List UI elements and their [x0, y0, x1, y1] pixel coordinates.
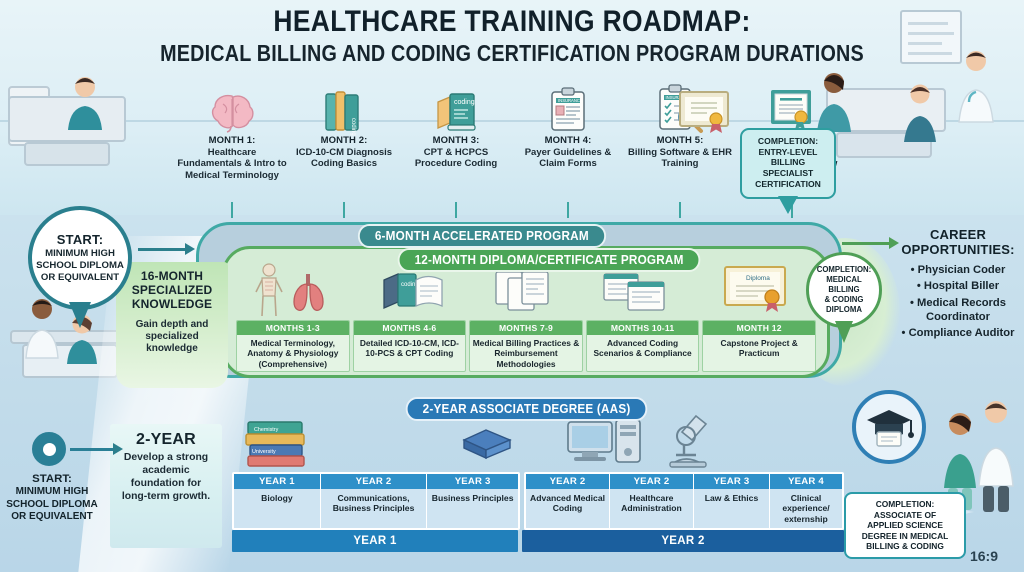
diploma-cell-body: Medical Terminology, Anatomy & Physiolog… [237, 335, 349, 372]
associate-cell-body: Healthcare Administration [610, 489, 693, 518]
svg-text:Chemistry: Chemistry [254, 427, 279, 433]
start-to-twoyear-arrow [70, 448, 114, 451]
start-dot-associate[interactable] [32, 432, 66, 466]
certificate-icon [736, 80, 848, 132]
start-pin-body: MINIMUM HIGH SCHOOL DIPLOMA OR EQUIVALEN… [32, 248, 128, 284]
completion-diploma-badge[interactable]: COMPLETION: MEDICAL BILLING & CODING DIP… [806, 252, 882, 328]
career-list-item: • Medical Records Coordinator [892, 296, 1024, 325]
diploma-cell-body: Medical Billing Practices & Reimbursemen… [470, 335, 582, 372]
associate-cell-head: YEAR 2 [610, 474, 693, 489]
career-list-item: • Physician Coder [892, 263, 1024, 277]
month-milestone-4[interactable]: INSURANCE MONTH 4: Payer Guidelines & Cl… [512, 80, 624, 170]
completion-aas-line-5: BILLING & CODING [850, 541, 960, 552]
completion-cert-line-2: ENTRY-LEVEL [747, 147, 829, 158]
diploma-cell[interactable]: MONTHS 10-11 Advanced Coding Scenarios &… [586, 320, 700, 372]
pin-pointer [69, 302, 91, 328]
infographic-canvas: HEALTHCARE TRAINING ROADMAP: MEDICAL BIL… [0, 0, 1024, 572]
documents-icon [492, 268, 552, 314]
associate-cell-head: YEAR 3 [694, 474, 769, 489]
svg-text:Diploma: Diploma [746, 275, 770, 282]
svg-text:coding: coding [350, 118, 356, 136]
completion-aas-line-3: APPLIED SCIENCE [850, 520, 960, 531]
associate-cell-head: YEAR 2 [321, 474, 427, 489]
reception-desk-front-decor [24, 142, 110, 166]
insurance-clipboard-icon: INSURANCE [512, 80, 624, 132]
title-line-1: HEALTHCARE TRAINING ROADMAP: [61, 6, 962, 38]
completion-cert-line-1: COMPLETION: [747, 136, 829, 147]
start-dot-label: START: MINIMUM HIGH SCHOOL DIPLOMA OR EQ… [6, 472, 98, 524]
career-heading-line-2: OPPORTUNITIES: [892, 243, 1024, 258]
desktop-computer-icon [566, 418, 644, 468]
diploma-cell-body: Capstone Project & Practicum [703, 335, 815, 362]
start-dot-body: MINIMUM HIGH SCHOOL DIPLOMA OR EQUIVALEN… [6, 486, 98, 524]
blue-book-icon [458, 424, 516, 464]
month-label: MONTH 2: [288, 135, 400, 147]
associate-cell[interactable]: YEAR 2 Healthcare Administration [610, 474, 694, 528]
associate-cell[interactable]: YEAR 3 Business Principles [427, 474, 518, 528]
panel-2-year[interactable]: 2-YEAR Develop a strong academic foundat… [110, 424, 222, 548]
books-icon: coding [288, 80, 400, 132]
associate-cell-body: Law & Ethics [694, 489, 769, 507]
start-pin-certificate[interactable]: START: MINIMUM HIGH SCHOOL DIPLOMA OR EQ… [28, 206, 132, 310]
completion-diploma-line-1: COMPLETION: [809, 265, 879, 275]
month-milestone-1[interactable]: MONTH 1: Healthcare Fundamentals & Intro… [176, 80, 288, 181]
diploma-icon: Diploma [722, 264, 788, 314]
associate-cell[interactable]: YEAR 1 Biology [234, 474, 321, 528]
badge-pointer [835, 321, 853, 343]
associate-cell-head: YEAR 1 [234, 474, 320, 489]
diploma-cell[interactable]: MONTH 12 Capstone Project & Practicum [702, 320, 816, 372]
diploma-cell-head: MONTH 12 [703, 321, 815, 335]
month-milestone-2[interactable]: coding MONTH 2: ICD-10-CM Diagnosis Codi… [288, 80, 400, 170]
program-label-associate[interactable]: 2-YEAR ASSOCIATE DEGREE (AAS) [406, 397, 648, 421]
month-description: ICD-10-CM Diagnosis Coding Basics [288, 147, 400, 170]
month-description: Healthcare Fundamentals & Intro to Medic… [176, 147, 288, 182]
associate-cell[interactable]: YEAR 3 Law & Ethics [694, 474, 770, 528]
stacked-books-icon: Chemistry University [242, 412, 312, 470]
svg-text:University: University [252, 449, 276, 455]
open-book-icon: coding [380, 270, 446, 314]
person-physician-decor [976, 398, 1020, 514]
aspect-ratio-watermark: 16:9 [970, 548, 998, 564]
associate-cell-head: YEAR 2 [526, 474, 609, 489]
person-clinician-decor [900, 82, 948, 142]
completion-diploma-line-2: MEDICAL BILLING [809, 275, 879, 295]
completion-diploma-line-4: DIPLOMA [809, 305, 879, 315]
milestone-stem [455, 202, 457, 218]
career-list-item: • Compliance Auditor [892, 326, 1024, 340]
diploma-cell-head: MONTHS 7-9 [470, 321, 582, 335]
associate-cell-body: Communications, Business Principles [321, 489, 427, 518]
panel-16-heading: 16-MONTH SPECIALIZED KNOWLEDGE [116, 270, 228, 312]
month-label: MONTH 5: [624, 135, 736, 147]
associate-cell[interactable]: YEAR 2 Advanced Medical Coding [526, 474, 610, 528]
brain-icon [176, 80, 288, 132]
start-dot-heading: START: [6, 472, 98, 486]
program-label-diploma[interactable]: 12-MONTH DIPLOMA/CERTIFICATE PROGRAM [398, 248, 701, 272]
associate-cell-body: Business Principles [427, 489, 518, 507]
diploma-cell[interactable]: MONTHS 4-6 Detailed ICD-10-CM, ICD-10-PC… [353, 320, 467, 372]
track-to-career-arrow [842, 242, 890, 245]
career-list-item: • Hospital Biller [892, 279, 1024, 293]
month-description: Billing Software & EHR Training [624, 147, 736, 170]
month-milestone-3[interactable]: coding MONTH 3: CPT & HCPCS Procedure Co… [400, 80, 512, 170]
month-label: MONTH 3: [400, 135, 512, 147]
diploma-cell-head: MONTHS 1-3 [237, 321, 349, 335]
career-list: • Physician Coder • Hospital Biller • Me… [892, 263, 1024, 341]
diploma-cell[interactable]: MONTHS 7-9 Medical Billing Practices & R… [469, 320, 583, 372]
associate-cell[interactable]: YEAR 4 Clinical experience/ externship [770, 474, 842, 528]
program-label-accelerated[interactable]: 6-MONTH ACCELERATED PROGRAM [358, 224, 606, 248]
associate-cell[interactable]: YEAR 2 Communications, Business Principl… [321, 474, 428, 528]
completion-aas-line-1: COMPLETION: [850, 499, 960, 510]
diploma-cell[interactable]: MONTHS 1-3 Medical Terminology, Anatomy … [236, 320, 350, 372]
milestone-stem [231, 202, 233, 218]
month-label: MONTH 4: [512, 135, 624, 147]
panel-2y-body: Develop a strong academic foundation for… [110, 452, 222, 504]
start-pin-heading: START: [32, 232, 128, 247]
associate-cell-body: Advanced Medical Coding [526, 489, 609, 518]
diploma-cell-head: MONTHS 10-11 [587, 321, 699, 335]
career-opportunities: CAREER OPPORTUNITIES: • Physician Coder … [892, 228, 1024, 341]
completion-aas-line-2: ASSOCIATE OF [850, 510, 960, 521]
milestone-stem [343, 202, 345, 218]
associate-cell-head: YEAR 3 [427, 474, 518, 489]
dot-inner [43, 443, 56, 456]
person-receptionist-decor [58, 74, 112, 130]
billing-screen-icon [602, 270, 668, 312]
coding-book-icon: coding [400, 80, 512, 132]
completion-cert-line-4: CERTIFICATION [747, 179, 829, 190]
career-heading-line-1: CAREER [892, 228, 1024, 243]
completion-diploma-line-3: & CODING [809, 295, 879, 305]
diploma-cell-head: MONTHS 4-6 [354, 321, 466, 335]
panel-16-body: Gain depth and specialized knowledge [116, 319, 228, 356]
completion-cert-line-3: BILLING SPECIALIST [747, 157, 829, 178]
milestone-stem [679, 202, 681, 218]
diploma-cell-body: Advanced Coding Scenarios & Compliance [587, 335, 699, 362]
associate-year2-group: YEAR 2 Advanced Medical Coding YEAR 2 He… [524, 472, 844, 530]
associate-cell-head: YEAR 4 [770, 474, 842, 489]
microscope-icon [662, 412, 722, 470]
diploma-cells: MONTHS 1-3 Medical Terminology, Anatomy … [236, 320, 816, 372]
month-label: MONTH 1: [176, 135, 288, 147]
start-to-track-arrow [138, 248, 186, 251]
panel-2y-heading: 2-YEAR [110, 431, 222, 449]
diploma-cell-body: Detailed ICD-10-CM, ICD-10-PCS & CPT Cod… [354, 335, 466, 362]
panel-16-month[interactable]: 16-MONTH SPECIALIZED KNOWLEDGE Gain dept… [116, 262, 228, 388]
month-description: Payer Guidelines & Claim Forms [512, 147, 624, 170]
associate-cell-body: Clinical experience/ externship [770, 489, 842, 528]
month-description: CPT & HCPCS Procedure Coding [400, 147, 512, 170]
badge-pointer [778, 196, 798, 214]
completion-certification-badge[interactable]: COMPLETION: ENTRY-LEVEL BILLING SPECIALI… [740, 128, 836, 199]
award-certificate-icon [672, 84, 736, 136]
graduation-cap-icon [852, 390, 926, 464]
associate-footer-year1: YEAR 1 [232, 530, 518, 552]
page-title: HEALTHCARE TRAINING ROADMAP: MEDICAL BIL… [0, 6, 1024, 65]
associate-year1-group: YEAR 1 Biology YEAR 2 Communications, Bu… [232, 472, 520, 530]
title-line-2: MEDICAL BILLING AND CODING CERTIFICATION… [72, 41, 953, 65]
associate-cell-body: Biology [234, 489, 320, 507]
svg-text:INSURANCE: INSURANCE [558, 98, 583, 103]
associate-cells: YEAR 1 Biology YEAR 2 Communications, Bu… [232, 472, 844, 530]
milestone-stem [567, 202, 569, 218]
completion-aas-line-4: DEGREE IN MEDICAL [850, 531, 960, 542]
completion-associate-badge[interactable]: COMPLETION: ASSOCIATE OF APPLIED SCIENCE… [844, 492, 966, 559]
svg-text:coding: coding [454, 99, 475, 106]
associate-footer-year2: YEAR 2 [522, 530, 844, 552]
anatomy-icon [252, 262, 286, 318]
lungs-icon [290, 270, 328, 314]
